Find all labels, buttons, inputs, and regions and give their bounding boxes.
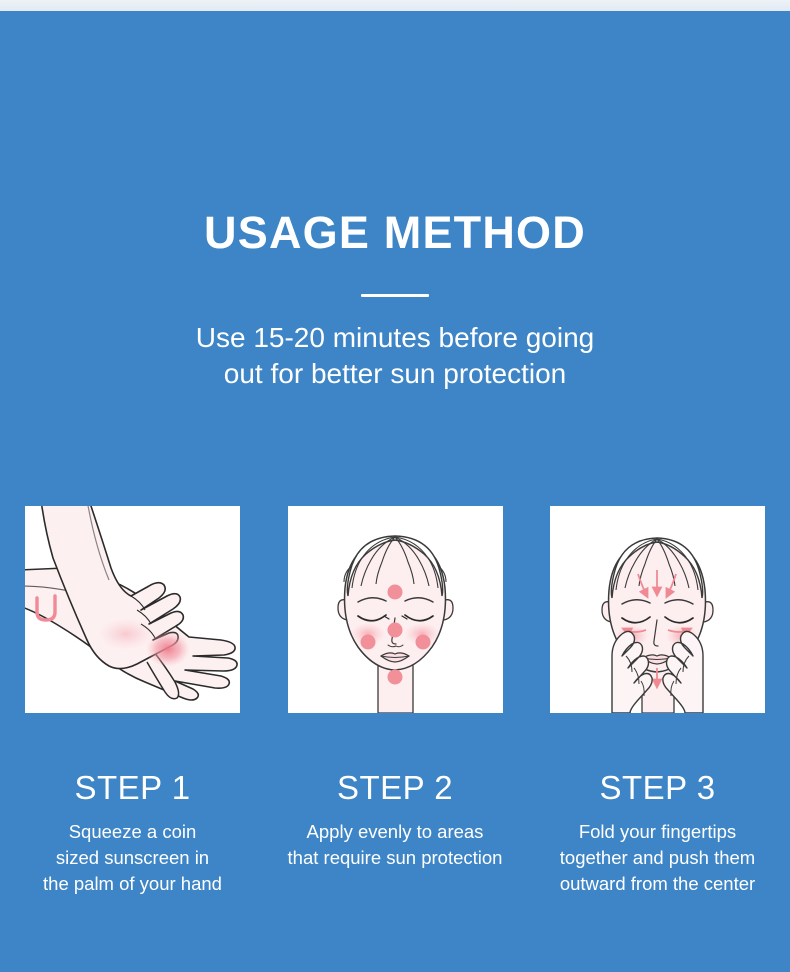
dot-left-cheek [360,635,375,650]
step-3-illustration-card [550,506,765,713]
step-2-caption-line-2: that require sun protection [270,845,520,871]
title-divider [361,294,429,297]
dot-forehead [387,585,402,600]
header-block: USAGE METHOD Use 15-20 minutes before go… [0,205,790,392]
step-1-caption-line-1: Squeeze a coin [8,819,258,845]
hand-applying-sunscreen-icon [25,506,240,713]
hands-smoothing-face-icon [550,506,765,713]
step-3-caption-line-1: Fold your fingertips [533,819,783,845]
step-1-caption-line-3: the palm of your hand [8,871,258,897]
dot-nose [387,623,402,638]
dot-right-cheek [415,635,430,650]
page-title: USAGE METHOD [0,205,790,261]
step-3-caption-line-2: together and push them [533,845,783,871]
step-3-caption-line-3: outward from the center [533,871,783,897]
step-2-illustration-card [288,506,503,713]
step-column-2: STEP 2 Apply evenly to areas that requir… [288,506,503,897]
step-1-heading: STEP 1 [74,771,190,805]
step-2-caption-line-1: Apply evenly to areas [270,819,520,845]
step-1-caption: Squeeze a coin sized sunscreen in the pa… [8,819,258,897]
step-column-3: STEP 3 Fold your fingertips together and… [550,506,765,897]
page-subtitle-line-2: out for better sun protection [0,356,790,392]
usage-method-infographic: USAGE METHOD Use 15-20 minutes before go… [0,0,790,972]
step-2-caption: Apply evenly to areas that require sun p… [270,819,520,871]
steps-row: STEP 1 Squeeze a coin sized sunscreen in… [25,506,765,897]
top-band [0,0,790,11]
step-2-heading: STEP 2 [337,771,453,805]
step-3-caption: Fold your fingertips together and push t… [533,819,783,897]
page-subtitle: Use 15-20 minutes before going out for b… [0,320,790,392]
step-column-1: STEP 1 Squeeze a coin sized sunscreen in… [25,506,240,897]
page-subtitle-line-1: Use 15-20 minutes before going [0,320,790,356]
dot-chin [387,670,402,685]
step-3-heading: STEP 3 [599,771,715,805]
step-1-illustration-card [25,506,240,713]
face-with-sunscreen-dots-icon [288,506,503,713]
step-1-caption-line-2: sized sunscreen in [8,845,258,871]
